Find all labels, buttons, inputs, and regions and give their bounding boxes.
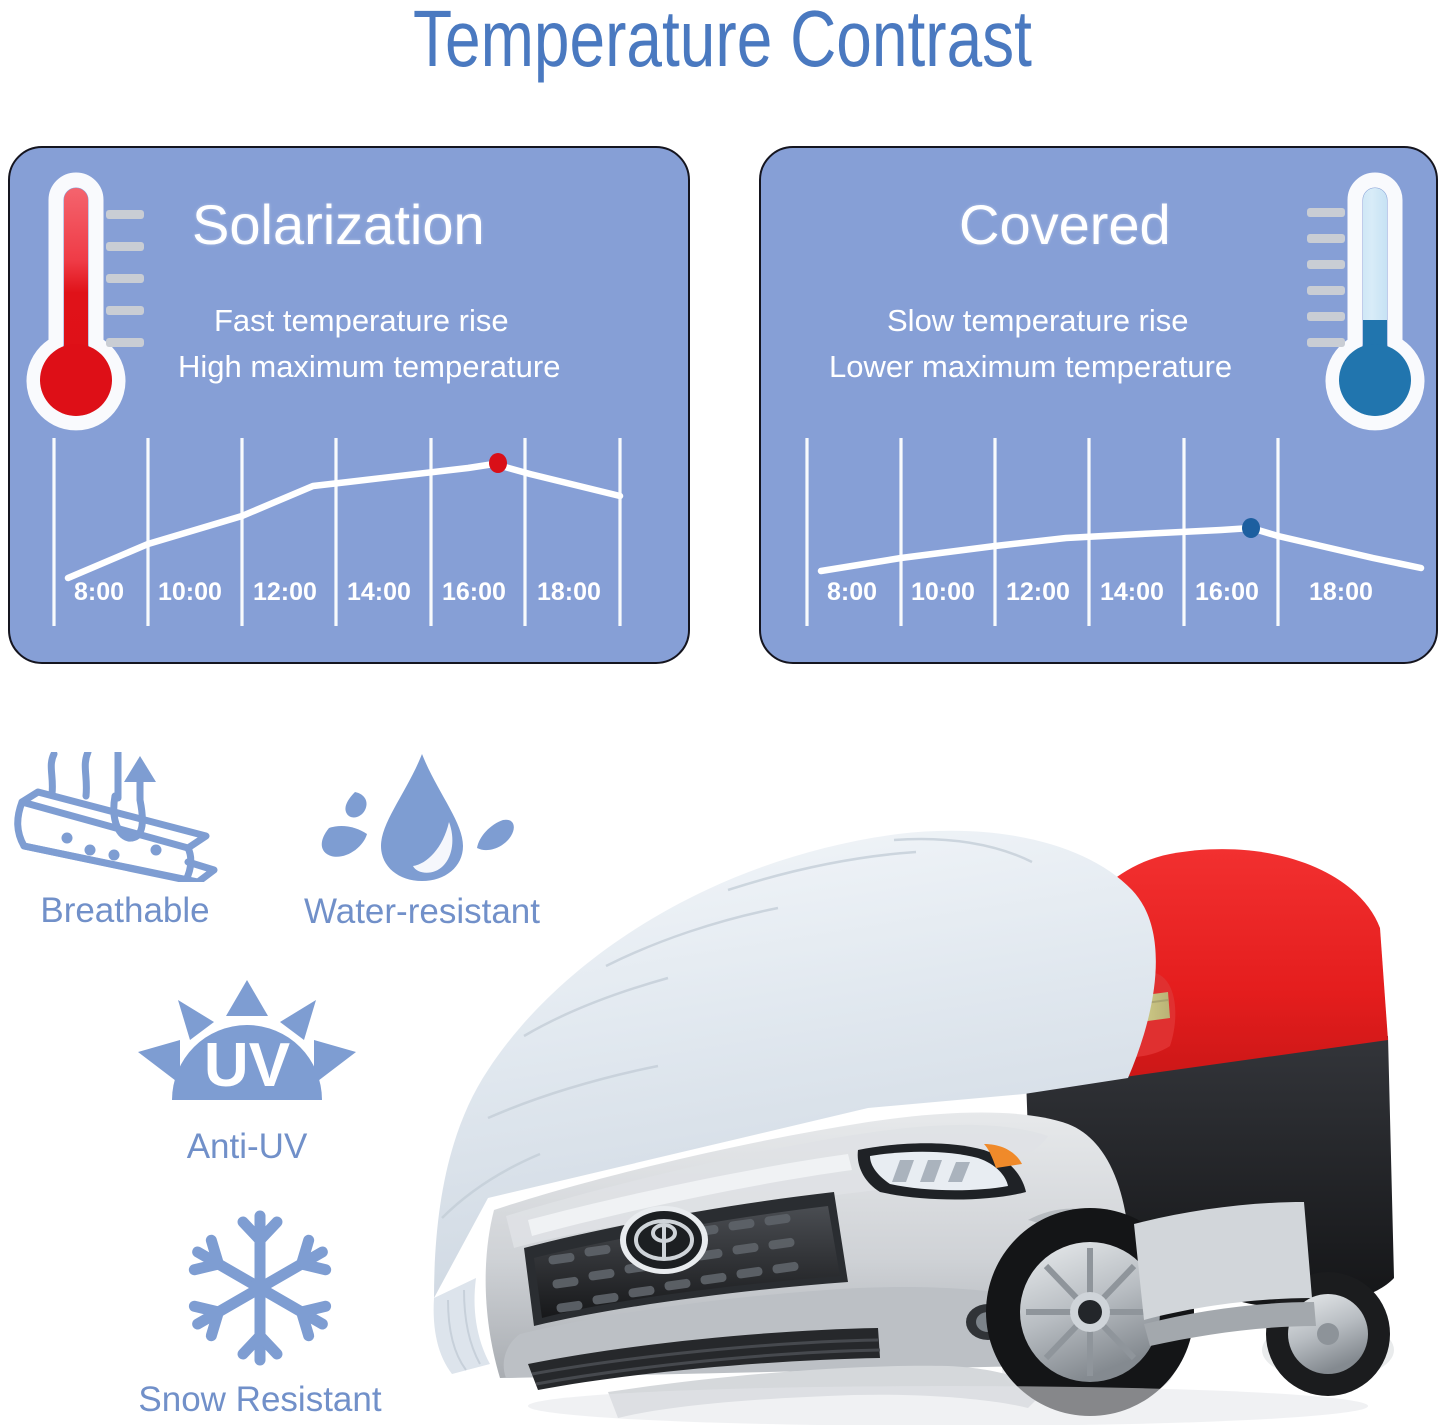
panel-heading-solarization: Solarization [192, 195, 485, 255]
feature-label: Snow Resistant [120, 1378, 400, 1422]
thermometer-cold-icon [1297, 168, 1427, 433]
chart-tick-label: 8:00 [74, 578, 124, 606]
solarization-temperature-chart: 8:00 10:00 12:00 14:00 16:00 18:00 [48, 438, 668, 648]
solarization-panel: Solarization Fast temperature rise High … [8, 146, 690, 664]
panel-subline-slow-rise: Slow temperature rise [887, 300, 1189, 342]
page-title: Temperature Contrast [145, 0, 1301, 82]
panel-subline-fast-rise: Fast temperature rise [214, 300, 509, 342]
chart-tick-label: 18:00 [1309, 578, 1373, 606]
uv-badge-text: UV [204, 1031, 290, 1100]
chart-tick-label: 18:00 [537, 578, 601, 606]
covered-temperature-chart: 8:00 10:00 12:00 14:00 16:00 18:00 [801, 438, 1421, 648]
chart-peak-marker [489, 453, 507, 473]
uv-sun-icon: UV [122, 978, 372, 1123]
chart-peak-marker [1242, 518, 1260, 538]
thermometer-hot-icon [24, 168, 154, 433]
feature-anti-uv: UV Anti-UV [122, 978, 372, 1169]
panel-heading-covered: Covered [959, 195, 1171, 255]
panel-subline-lower-max: Lower maximum temperature [829, 346, 1232, 388]
chart-tick-label: 10:00 [158, 578, 222, 606]
infographic-root: Temperature Contrast [0, 0, 1445, 1425]
feature-label: Anti-UV [122, 1125, 372, 1169]
chart-tick-label: 12:00 [1006, 578, 1070, 606]
feature-label: Breathable [0, 889, 250, 933]
chart-tick-label: 14:00 [347, 578, 411, 606]
breathable-fabric-icon [0, 752, 250, 887]
covered-panel: Covered Slow temperature rise Lower maxi… [759, 146, 1438, 664]
panel-subline-high-max: High maximum temperature [178, 346, 560, 388]
suv-with-car-cover-photo [428, 778, 1436, 1425]
feature-breathable: Breathable [0, 752, 250, 933]
chart-gridlines [54, 438, 620, 626]
feature-snow-resistant: Snow Resistant [120, 1206, 400, 1422]
chart-tick-label: 16:00 [442, 578, 506, 606]
chart-tick-label: 14:00 [1100, 578, 1164, 606]
chart-tick-label: 12:00 [253, 578, 317, 606]
chart-tick-label: 16:00 [1195, 578, 1259, 606]
snowflake-icon [120, 1206, 400, 1376]
chart-tick-label: 8:00 [827, 578, 877, 606]
chart-line-series [68, 464, 620, 578]
chart-line-series [821, 528, 1421, 571]
chart-tick-label: 10:00 [911, 578, 975, 606]
